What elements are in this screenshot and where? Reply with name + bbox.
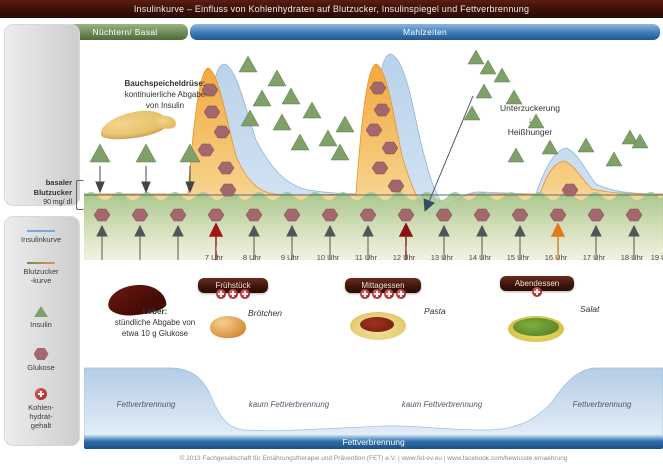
insulin-glucose-chart bbox=[84, 44, 663, 260]
legend-label-blutzucker-1: Blutzucker bbox=[23, 267, 58, 276]
fat-burning-chart: Fettverbrennung kaum Fettverbrennung kau… bbox=[84, 362, 663, 438]
axis-label-15uhr: 15 Uhr bbox=[507, 253, 530, 262]
axis-label-9uhr: 9 Uhr bbox=[281, 253, 299, 262]
carb-dots-abendessen bbox=[500, 287, 574, 297]
meal-abendessen[interactable]: Abendessen bbox=[500, 276, 574, 297]
food-label-pasta: Pasta bbox=[424, 306, 446, 316]
liver-annotation: Leber: stündliche Abgabe von etwa 10 g G… bbox=[95, 306, 215, 339]
axis-tick bbox=[102, 246, 103, 251]
orange-line-icon bbox=[27, 262, 55, 264]
salat-image bbox=[508, 316, 564, 342]
time-axis: 7 Uhr 8 Uhr 9 Uhr 10 Uhr 11 Uhr 12 Uhr 1… bbox=[84, 246, 663, 266]
legend-label-insulinkurve: Insulinkurve bbox=[21, 235, 61, 244]
axis-tick bbox=[558, 246, 559, 251]
baseline-label: basaler Blutzucker 90 mg/ dl bbox=[4, 178, 72, 208]
legend-item-insulin: Insulin bbox=[4, 306, 78, 329]
meal-mittagessen[interactable]: Mittagessen bbox=[345, 278, 421, 299]
legend-label-insulin: Insulin bbox=[30, 320, 52, 329]
legend-item-blutzuckerkurve: Blutzucker -kurve bbox=[4, 262, 78, 285]
axis-tick bbox=[406, 246, 407, 251]
legend-item-insulinkurve: Insulinkurve bbox=[4, 230, 78, 244]
fat-zone-label-3: kaum Fettverbrennung bbox=[402, 400, 483, 409]
pancreas-annotation-line2: von Insulin bbox=[146, 101, 184, 110]
infographic-root: Insulinkurve – Einfluss von Kohlenhydrat… bbox=[0, 0, 663, 472]
legend-label-blutzucker-2: -kurve bbox=[31, 276, 52, 285]
legend-label-glukose: Glukose bbox=[27, 363, 55, 372]
axis-label-11uhr: 11 Uhr bbox=[355, 253, 377, 262]
pancreas-annotation-title: Bauchspeicheldrüse: bbox=[125, 79, 206, 88]
axis-label-8uhr: 8 Uhr bbox=[243, 253, 261, 262]
page-title: Insulinkurve – Einfluss von Kohlenhydrat… bbox=[0, 0, 663, 18]
axis-tick bbox=[140, 246, 141, 251]
carb-dot-icon bbox=[384, 289, 394, 299]
legend-label-kh-1: Kohlen- bbox=[28, 403, 54, 412]
axis-tick bbox=[444, 246, 445, 251]
legend-item-glukose: Glukose bbox=[4, 348, 78, 372]
carb-dot-icon bbox=[396, 289, 406, 299]
carb-dot-icon bbox=[532, 287, 542, 297]
axis-tick bbox=[292, 246, 293, 251]
meal-fruehstueck[interactable]: Frühstück bbox=[198, 278, 268, 299]
food-label-salat: Salat bbox=[580, 304, 599, 314]
axis-label-17uhr: 17 Uhr bbox=[583, 253, 606, 262]
legend-label-kh-2: hydrat- bbox=[29, 412, 52, 421]
legend-item-kohlenhydratgehalt: Kohlen- hydrat- gehalt bbox=[4, 388, 78, 430]
liver-annotation-title: Leber: bbox=[143, 307, 167, 316]
hypoglycemia-line1: Unterzuckerung bbox=[500, 103, 560, 113]
baseline-line2: Blutzucker bbox=[4, 188, 72, 198]
insulin-down-arrow-group bbox=[96, 166, 194, 192]
liver-annotation-line1: stündliche Abgabe von bbox=[115, 318, 196, 327]
carb-dot-icon bbox=[240, 289, 250, 299]
phase-bar-meals: Mahlzeiten bbox=[190, 24, 660, 40]
axis-label-19uhr: 19 Uhr bbox=[651, 253, 663, 262]
axis-tick bbox=[254, 246, 255, 251]
carb-dot-icon bbox=[360, 289, 370, 299]
phase-bar-fasting: Nüchtern/ Basal bbox=[62, 24, 188, 40]
baseline-line1: basaler bbox=[4, 178, 72, 188]
baseline-brace-icon bbox=[76, 180, 84, 210]
axis-label-18uhr: 18 Uhr bbox=[621, 253, 644, 262]
broetchen-image bbox=[210, 316, 246, 338]
footer-credit: © 2013 Fachgesellschaft für Ernährungsth… bbox=[84, 455, 663, 462]
axis-tick bbox=[520, 246, 521, 251]
axis-label-10uhr: 10 Uhr bbox=[317, 253, 340, 262]
down-arrow-icon: ↓ bbox=[528, 115, 532, 125]
red-plus-dot-icon bbox=[35, 388, 47, 400]
axis-label-16uhr: 16 Uhr bbox=[545, 253, 568, 262]
carb-dots-mittagessen bbox=[345, 289, 421, 299]
green-triangle-icon bbox=[34, 306, 48, 317]
baseline-value: 90 mg/ dl bbox=[4, 198, 72, 208]
fat-burning-bar: Fettverbrennung bbox=[84, 435, 663, 449]
fat-zone-label-1: Fettverbrennung bbox=[117, 400, 176, 409]
axis-label-12uhr: 12 Uhr bbox=[393, 253, 416, 262]
axis-tick bbox=[634, 246, 635, 251]
chart-svg bbox=[84, 44, 663, 260]
pasta-image bbox=[350, 312, 406, 340]
axis-label-7uhr: 7 Uhr bbox=[205, 253, 223, 262]
axis-tick bbox=[482, 246, 483, 251]
carb-dot-icon bbox=[228, 289, 238, 299]
axis-tick bbox=[216, 246, 217, 251]
legend-label-kh-3: gehalt bbox=[31, 421, 51, 430]
axis-tick bbox=[330, 246, 331, 251]
pancreas-annotation-line1: kontinuierliche Abgabe bbox=[125, 90, 206, 99]
hypoglycemia-annotation: Unterzuckerung ↓ Heißhunger bbox=[470, 102, 590, 138]
axis-tick bbox=[178, 246, 179, 251]
carb-dots-fruehstueck bbox=[198, 289, 268, 299]
axis-label-13uhr: 13 Uhr bbox=[431, 253, 454, 262]
hypoglycemia-line2: Heißhunger bbox=[508, 127, 552, 137]
food-label-broetchen: Brötchen bbox=[248, 308, 282, 318]
carb-dot-icon bbox=[372, 289, 382, 299]
axis-label-14uhr: 14 Uhr bbox=[469, 253, 492, 262]
red-hexagon-icon bbox=[34, 348, 49, 360]
fat-zone-label-2: kaum Fettverbrennung bbox=[249, 400, 330, 409]
axis-tick bbox=[596, 246, 597, 251]
fat-zone-label-4: Fettverbrennung bbox=[573, 400, 632, 409]
blue-line-icon bbox=[27, 230, 55, 232]
pancreas-annotation: Bauchspeicheldrüse: kontinuierliche Abga… bbox=[90, 78, 240, 111]
liver-annotation-line2: etwa 10 g Glukose bbox=[122, 329, 188, 338]
carb-dot-icon bbox=[216, 289, 226, 299]
axis-tick bbox=[368, 246, 369, 251]
